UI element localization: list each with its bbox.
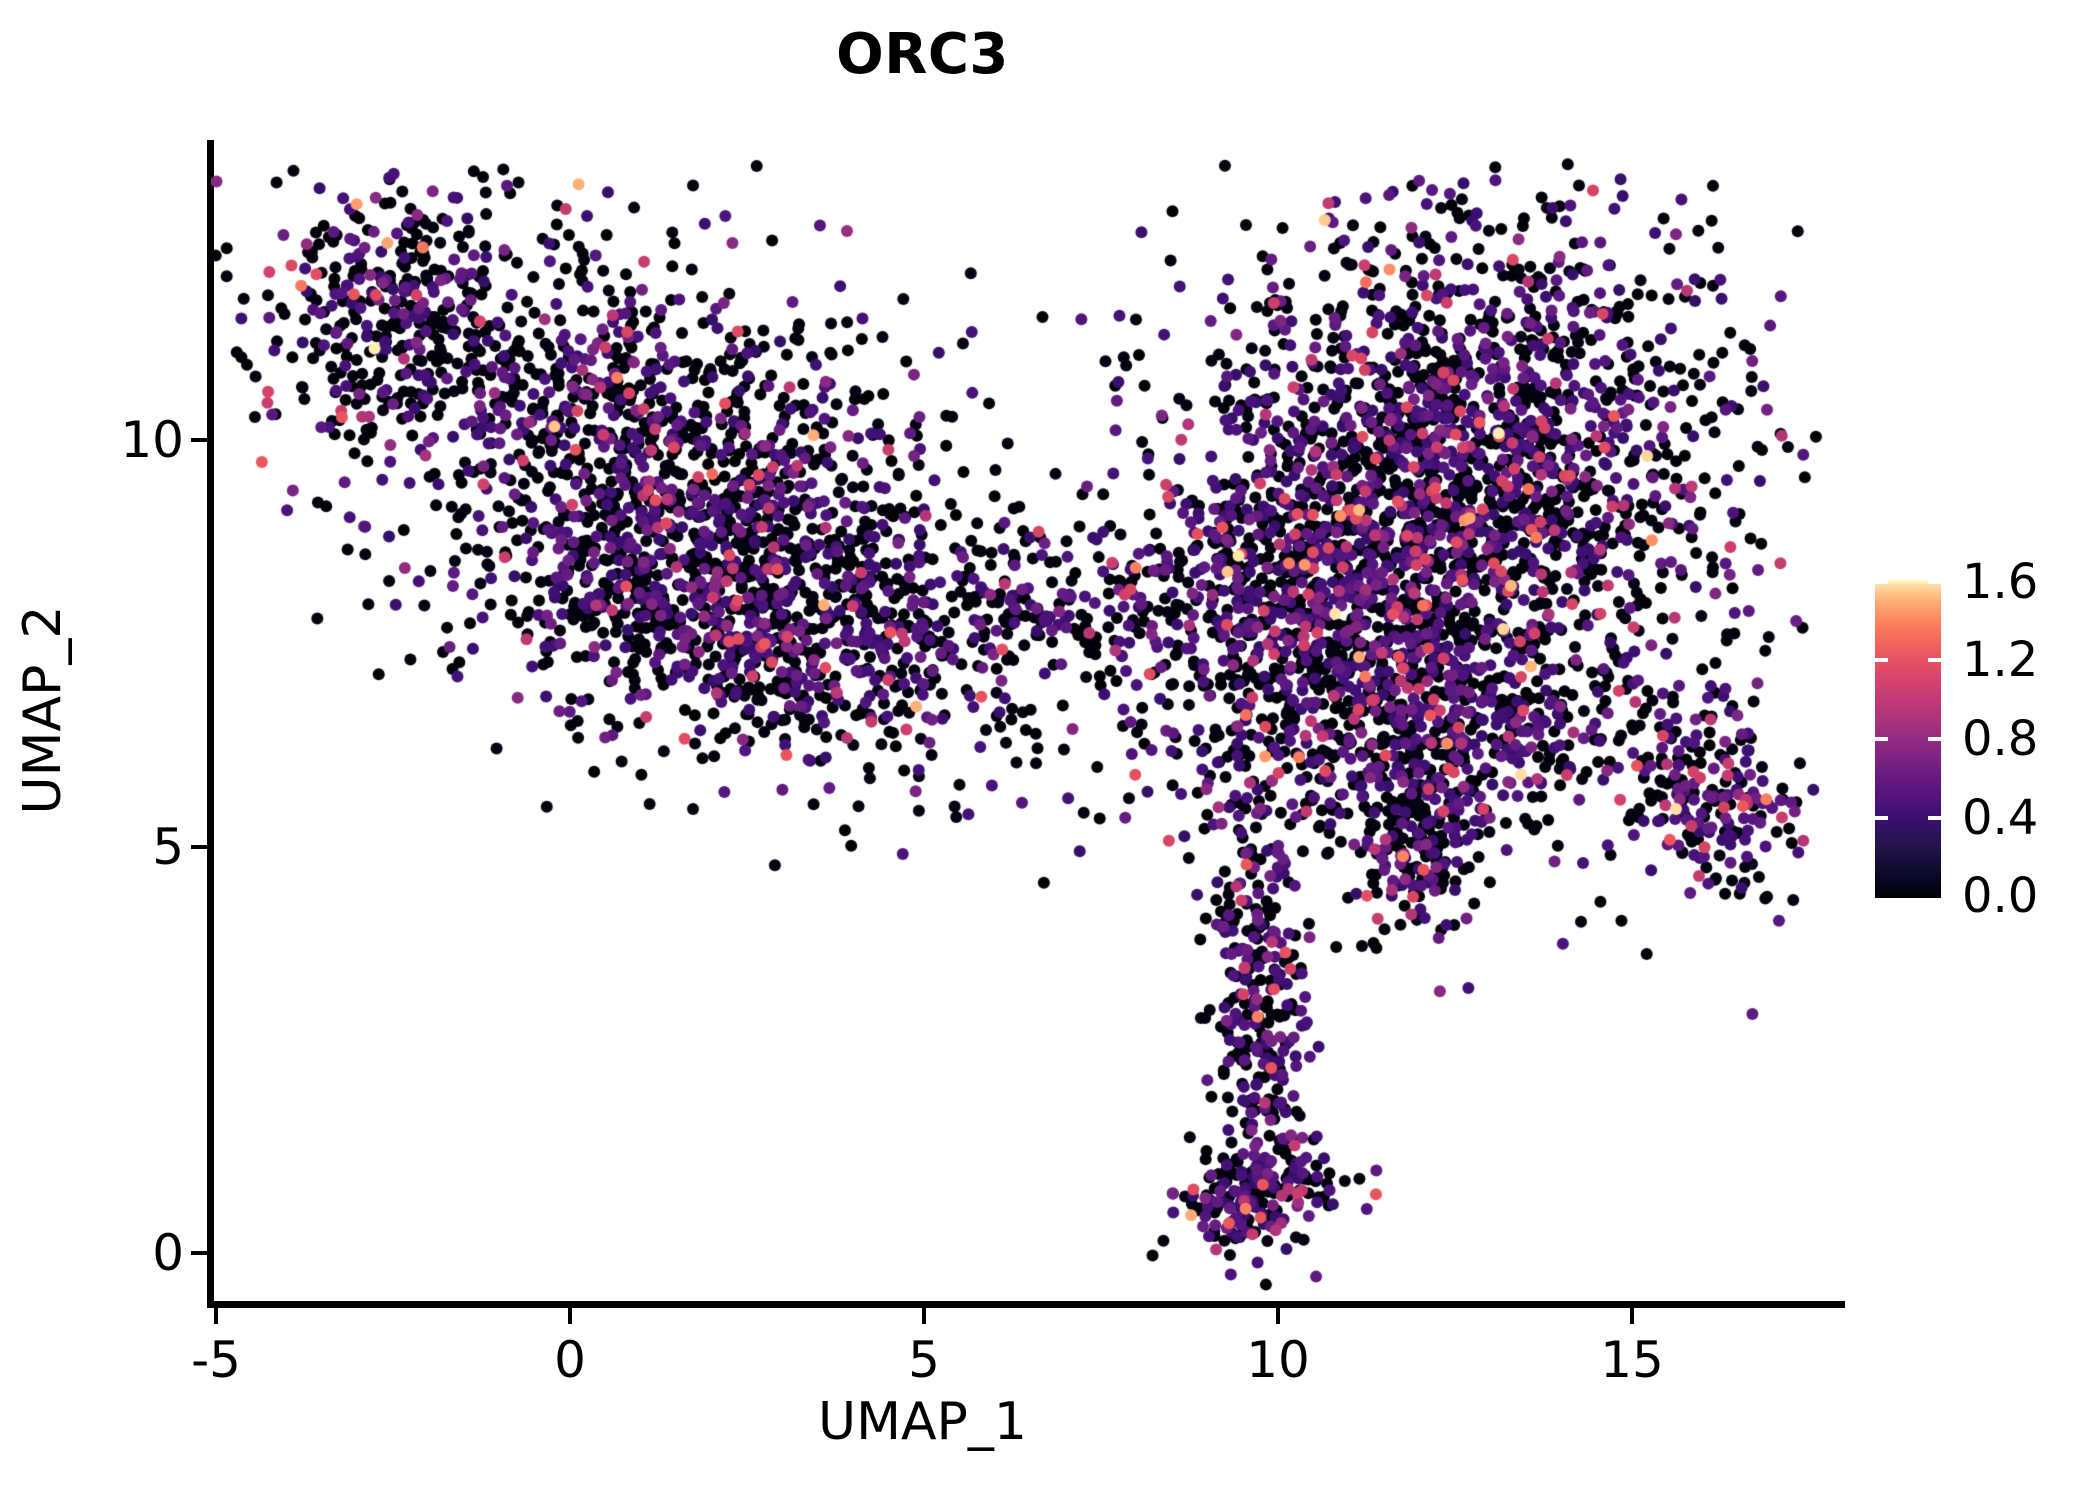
colorbar-label-1.2: 1.2 — [1962, 636, 2038, 684]
colorbar-label-0.8: 0.8 — [1962, 715, 2038, 763]
figure-canvas: ORC3 -5 0 5 10 15 10 5 0 UMAP_1 UMAP_2 1… — [0, 0, 2100, 1500]
x-axis-label: UMAP_1 — [0, 1392, 1845, 1452]
x-tick-mark-3 — [1276, 1308, 1280, 1324]
y-tick-mark-0 — [191, 1251, 207, 1255]
x-tick-label-1: 0 — [490, 1330, 650, 1390]
colorbar — [1875, 580, 1941, 898]
page-title: ORC3 — [0, 22, 1845, 87]
x-tick-label-2: 5 — [844, 1330, 1004, 1390]
x-tick-mark-0 — [214, 1308, 218, 1324]
colorbar-tick-0.4-right — [1928, 816, 1941, 820]
x-tick-label-0: -5 — [136, 1330, 296, 1390]
scatter-points — [211, 140, 1845, 1305]
colorbar-tick-1.2-right — [1928, 658, 1941, 662]
x-tick-label-4: 15 — [1552, 1330, 1712, 1390]
colorbar-tick-1.6-right — [1928, 580, 1941, 584]
colorbar-label-1.6: 1.6 — [1962, 558, 2038, 606]
colorbar-tick-1.6-left — [1875, 580, 1888, 584]
y-tick-label-0: 0 — [0, 1228, 184, 1278]
colorbar-tick-0.8-right — [1928, 737, 1941, 741]
y-tick-mark-5 — [191, 845, 207, 849]
colorbar-label-0.0: 0.0 — [1962, 872, 2038, 920]
x-tick-mark-4 — [1630, 1308, 1634, 1324]
colorbar-tick-0.8-left — [1875, 737, 1888, 741]
colorbar-tick-0.4-left — [1875, 816, 1888, 820]
x-tick-label-3: 10 — [1198, 1330, 1358, 1390]
y-tick-mark-10 — [191, 438, 207, 442]
plot-area — [211, 140, 1845, 1305]
x-tick-mark-1 — [568, 1308, 572, 1324]
x-tick-mark-2 — [922, 1308, 926, 1324]
y-axis-label: UMAP_2 — [13, 310, 73, 1110]
colorbar-tick-1.2-left — [1875, 658, 1888, 662]
colorbar-label-0.4: 0.4 — [1962, 794, 2038, 842]
